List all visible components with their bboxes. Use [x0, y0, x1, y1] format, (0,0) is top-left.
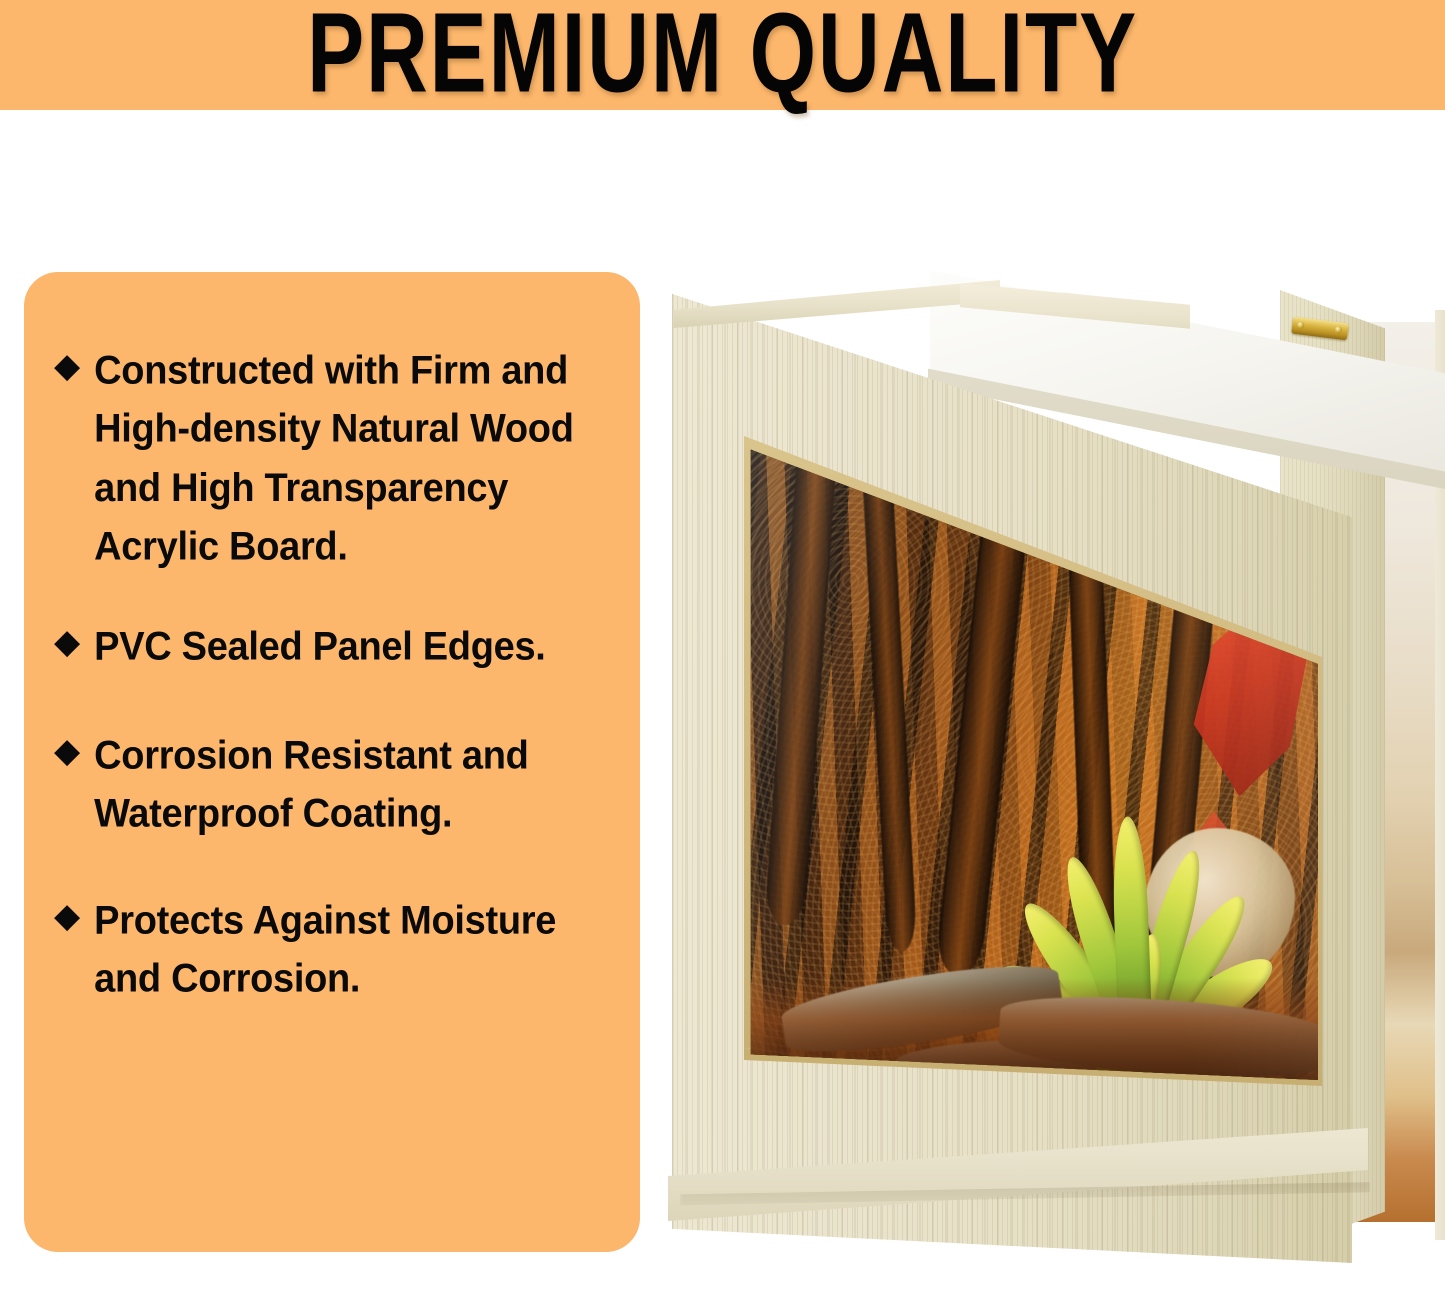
- premium-quality-banner: PREMIUM QUALITY: [0, 0, 1445, 110]
- feature-bullet-text: Corrosion Resistant and Waterproof Coati…: [94, 727, 614, 845]
- feature-highlights-card: ◆ Constructed with Firm and High-density…: [24, 272, 640, 1252]
- feature-bullet-text: PVC Sealed Panel Edges.: [94, 618, 545, 677]
- list-item: ◆ Protects Against Moisture and Corrosio…: [54, 892, 614, 1003]
- diamond-bullet-icon: ◆: [54, 344, 80, 389]
- list-item: ◆ Corrosion Resistant and Waterproof Coa…: [54, 727, 614, 838]
- list-item: ◆ PVC Sealed Panel Edges.: [54, 618, 614, 673]
- feature-bullet-text: Constructed with Firm and High-density N…: [94, 342, 614, 577]
- diamond-bullet-icon: ◆: [54, 620, 80, 665]
- feature-bullet-text: Protects Against Moisture and Corrosion.: [94, 892, 614, 1010]
- diamond-bullet-icon: ◆: [54, 729, 80, 774]
- diamond-bullet-icon: ◆: [54, 894, 80, 939]
- feature-bullet-list: ◆ Constructed with Firm and High-density…: [54, 342, 614, 1003]
- list-item: ◆ Constructed with Firm and High-density…: [54, 342, 614, 564]
- banner-title: PREMIUM QUALITY: [307, 0, 1138, 114]
- product-feature-page: PREMIUM QUALITY ◆ Constructed with Firm …: [0, 0, 1445, 1302]
- product-photo: [660, 230, 1445, 1265]
